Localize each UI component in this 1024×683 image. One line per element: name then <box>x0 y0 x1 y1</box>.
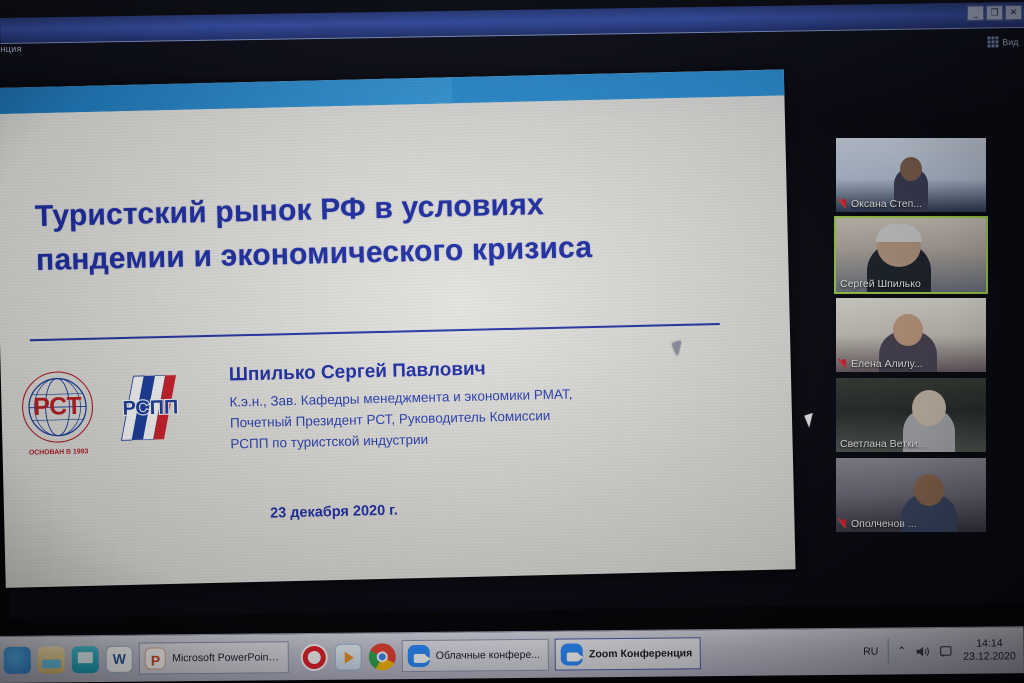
zoom-icon <box>561 643 583 665</box>
zoom-icon <box>408 645 430 667</box>
participant-label: Ополченов ... <box>836 518 921 530</box>
chrome-icon[interactable] <box>369 643 396 670</box>
participant-label: Светлана Ветки... <box>836 438 930 450</box>
view-mode-label: Вид <box>1002 37 1018 47</box>
rst-logo-icon: РСТ ОСНОВАН В 1993 <box>11 366 105 460</box>
tray-divider <box>887 638 888 664</box>
mic-muted-icon <box>840 199 848 210</box>
powerpoint-task-button[interactable]: Microsoft PowerPoint ... <box>139 641 289 674</box>
clock-date: 23.12.2020 <box>963 650 1016 664</box>
participant-tile[interactable]: Оксана Степ... <box>836 138 986 212</box>
participant-tile-active-speaker[interactable]: Сергей Шпилько <box>836 218 986 292</box>
show-hidden-icons-chevron-icon[interactable]: ⌃ <box>897 645 906 657</box>
language-indicator[interactable]: RU <box>863 646 878 658</box>
action-center-icon[interactable] <box>939 643 954 658</box>
window-controls[interactable]: _ ❐ ✕ <box>967 5 1022 21</box>
taskbar-clock[interactable]: 14:14 23.12.2020 <box>963 637 1016 664</box>
rspp-logo-icon: РСПП <box>113 371 193 445</box>
speaker-name: Шпилько Сергей Павлович <box>229 358 486 386</box>
participant-tile[interactable]: Ополченов ... <box>836 458 986 532</box>
speaker-credentials: К.э.н., Зав. Кафедры менеджмента и эконо… <box>229 381 700 455</box>
view-mode-button[interactable]: Вид <box>987 36 1018 47</box>
opera-icon[interactable] <box>301 643 328 670</box>
zoom-cloud-task-label: Облачные конфере... <box>436 649 540 662</box>
participant-name: Светлана Ветки... <box>840 438 926 450</box>
participant-label: Елена Алилу... <box>836 358 927 370</box>
participant-name: Оксана Степ... <box>851 198 922 210</box>
participant-tile[interactable]: Светлана Ветки... <box>836 378 986 452</box>
taskbar-quick-icons[interactable] <box>289 643 396 671</box>
close-button[interactable]: ✕ <box>1005 5 1022 20</box>
grid-view-icon <box>987 36 998 47</box>
svg-text:РСТ: РСТ <box>33 393 82 421</box>
mic-muted-icon <box>840 359 848 370</box>
slide-date: 23 декабря 2020 г. <box>270 503 398 522</box>
mic-muted-icon <box>840 519 848 530</box>
shared-screen-slide[interactable]: Туристский рынок РФ в условиях пандемии … <box>0 69 796 587</box>
restore-button[interactable]: ❐ <box>986 5 1003 20</box>
minimize-button[interactable]: _ <box>967 6 984 21</box>
participant-label: Сергей Шпилько <box>836 278 925 290</box>
media-player-icon[interactable] <box>335 643 362 670</box>
zoom-window-title: нция <box>0 44 21 54</box>
slide-canvas: Туристский рынок РФ в условиях пандемии … <box>0 69 796 587</box>
windows-taskbar[interactable]: Microsoft PowerPoint ... Облачные конфер… <box>0 626 1024 683</box>
zoom-meeting-task-label: Zoom Конференция <box>589 647 692 660</box>
svg-text:РСПП: РСПП <box>122 396 178 419</box>
file-explorer-icon[interactable] <box>38 646 65 673</box>
taskbar-pinned-icons[interactable] <box>0 645 133 673</box>
svg-text:ОСНОВАН В 1993: ОСНОВАН В 1993 <box>29 448 89 456</box>
system-tray[interactable]: RU ⌃ 14:14 23.12.2020 <box>863 637 1024 665</box>
zoom-cloud-task-button[interactable]: Облачные конфере... <box>402 639 550 672</box>
participant-name: Ополченов ... <box>851 518 917 530</box>
participant-tile[interactable]: Елена Алилу... <box>836 298 986 372</box>
slide-title: Туристский рынок РФ в условиях пандемии … <box>35 179 737 282</box>
monitor-photo: _ ❐ ✕ нция Вид Туристский рынок РФ в усл… <box>0 0 1024 683</box>
participant-strip: Оксана Степ... Сергей Шпилько Елена Алил… <box>836 138 986 538</box>
participant-name: Сергей Шпилько <box>840 278 921 290</box>
start-icon[interactable] <box>4 646 31 673</box>
powerpoint-task-label: Microsoft PowerPoint ... <box>172 651 280 664</box>
powerpoint-icon <box>145 647 167 669</box>
presentation-app-icon[interactable] <box>72 646 99 673</box>
slide-divider <box>30 323 720 341</box>
speaker-icon[interactable] <box>915 644 930 659</box>
word-icon[interactable] <box>106 645 133 672</box>
zoom-meeting-task-button[interactable]: Zoom Конференция <box>555 637 701 670</box>
participant-name: Елена Алилу... <box>851 358 923 370</box>
clock-time: 14:14 <box>963 637 1016 651</box>
participant-label: Оксана Степ... <box>836 198 926 210</box>
